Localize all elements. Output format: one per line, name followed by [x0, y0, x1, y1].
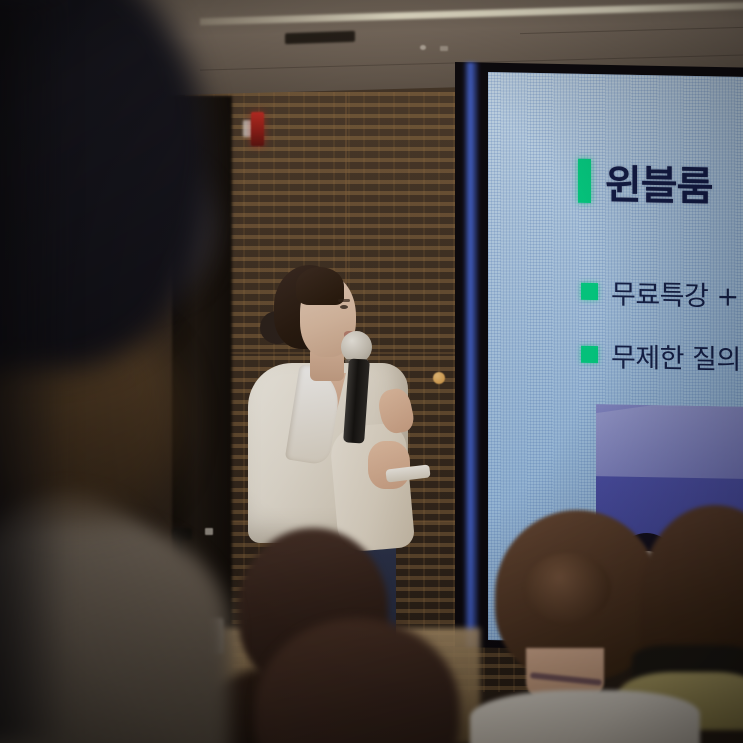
display-edge-glow — [463, 62, 479, 647]
audience-hair-bun — [525, 553, 611, 623]
bullet-square-icon — [581, 346, 598, 363]
slide-bullet-item: 무제한 질의 — [581, 335, 741, 377]
slide-bullet-item: 무료특강 + — [581, 272, 741, 314]
speaker-led-icon — [205, 528, 213, 535]
presentation-photo: 윈블룸 무료특강 + 무제한 질의 — [0, 0, 743, 743]
presenter-eyebrow — [338, 299, 350, 302]
fire-alarm-icon — [251, 112, 264, 146]
slide-title: 윈블룸 — [605, 152, 712, 212]
audience-shirt — [470, 690, 700, 743]
presenter-hair-front — [296, 267, 344, 305]
ceiling-spotlight-icon — [420, 45, 426, 50]
mic-stand-head — [172, 528, 192, 540]
title-accent-bar-icon — [578, 159, 591, 203]
slide-bullet-text: 무료특강 + — [611, 272, 739, 313]
slide-bullet-text: 무제한 질의 — [611, 335, 741, 376]
slide-bullet-list: 무료특강 + 무제한 질의 — [581, 272, 741, 401]
slide-title-row: 윈블룸 — [578, 152, 712, 213]
ceiling-sensor-icon — [440, 46, 448, 51]
presenter-eye — [340, 305, 348, 309]
bullet-square-icon — [581, 283, 598, 300]
foreground-blur-left-edge — [0, 0, 70, 743]
